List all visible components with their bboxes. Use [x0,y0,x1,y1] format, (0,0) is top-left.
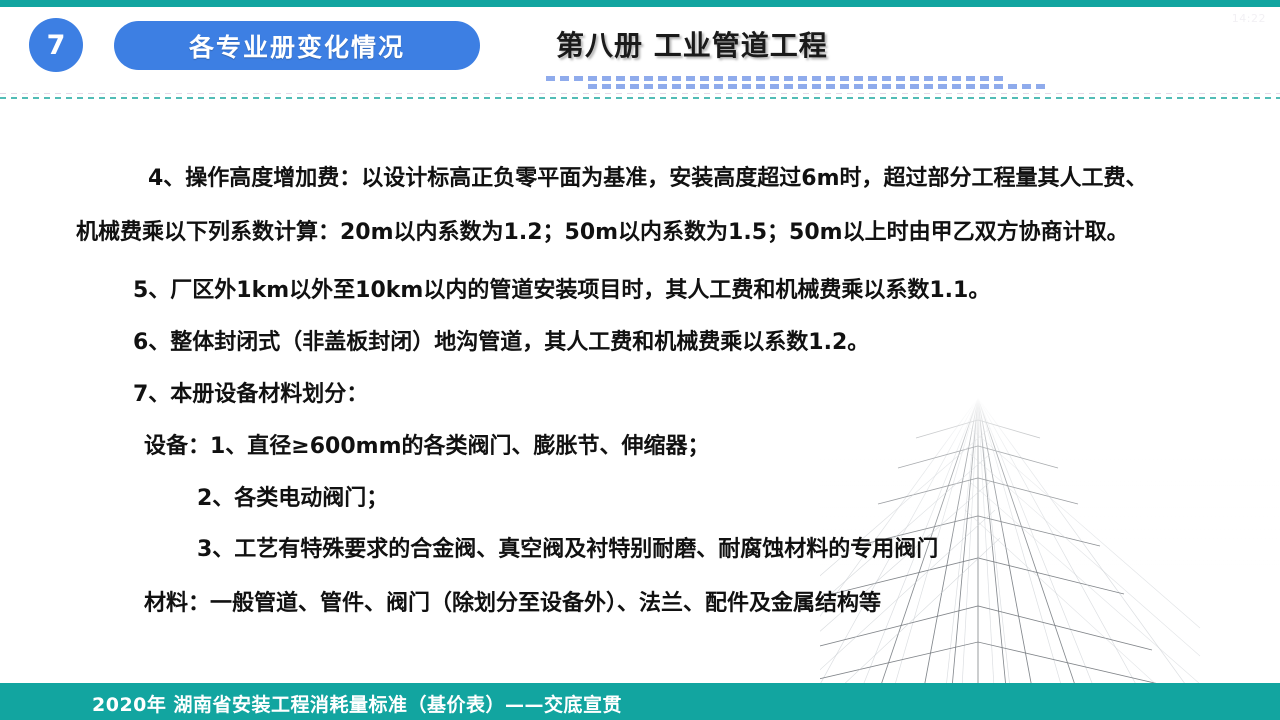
body-line-4: 6、整体封闭式（非盖板封闭）地沟管道，其人工费和机械费乘以系数1.2。 [133,324,869,356]
title-underline-decoration [546,76,1046,94]
section-title-pill[interactable]: 各专业册变化情况 [114,21,480,70]
footer-bar: 2020年 湖南省安装工程消耗量标准（基价表）——交底宣贯 [0,683,1280,720]
clock-label: 14:22 [1232,12,1266,25]
slide-canvas: 14:22 7 各专业册变化情况 第八册 工业管道工程 [0,0,1280,720]
body-line-3: 5、厂区外1km以外至10km以内的管道安装项目时，其人工费和机械费乘以系数1.… [133,272,990,304]
header-divider [0,97,1280,99]
title-underline-row-1 [546,76,1006,81]
body-line-6: 设备：1、直径≥600mm的各类阀门、膨胀节、伸缩器； [144,428,710,460]
page-title: 第八册 工业管道工程 [556,24,828,64]
section-number-badge: 7 [29,18,83,72]
body-line-5: 7、本册设备材料划分： [133,376,368,408]
body-line-8: 3、工艺有特殊要求的合金阀、真空阀及衬特别耐磨、耐腐蚀材料的专用阀门 [197,531,938,563]
top-accent-bar [0,0,1280,7]
body-line-9: 材料：一般管道、管件、阀门（除划分至设备外）、法兰、配件及金属结构等 [144,585,881,617]
body-line-7: 2、各类电动阀门； [197,480,388,512]
header-divider-faint [0,93,1280,94]
footer-label: 2020年 湖南省安装工程消耗量标准（基价表）——交底宣贯 [92,690,622,717]
body-line-1: 4、操作高度增加费：以设计标高正负零平面为基准，安装高度超过6m时，超过部分工程… [148,160,1148,192]
title-underline-row-2 [588,84,1046,89]
body-line-2: 机械费乘以下列系数计算：20m以内系数为1.2；50m以内系数为1.5；50m以… [76,214,1129,246]
